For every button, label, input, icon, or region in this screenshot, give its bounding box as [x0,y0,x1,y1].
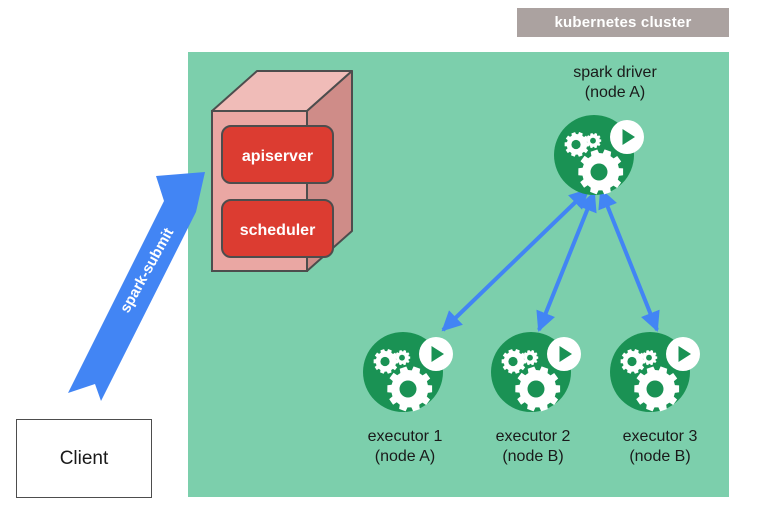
client-box[interactable]: Client [16,419,152,498]
executor-3-node[interactable] [610,332,700,412]
diagram-canvas: kubernetes cluster apiserver scheduler s… [0,0,761,516]
spark-driver-label: spark driver (node A) [525,63,705,103]
executor-1-node[interactable] [363,332,453,412]
executor-3-label: executor 3 (node B) [595,427,725,467]
gears-play-icon [363,332,453,412]
play-badge-icon [666,337,700,371]
gears-play-icon [610,332,700,412]
play-badge-icon [419,337,453,371]
executor-2-node[interactable] [491,332,581,412]
spark-driver-node[interactable] [554,115,644,195]
play-badge-icon [547,337,581,371]
executor-2-label: executor 2 (node B) [468,427,598,467]
gears-play-icon [491,332,581,412]
executor-1-label: executor 1 (node A) [340,427,470,467]
play-badge-icon [610,120,644,154]
gears-play-icon [554,115,644,195]
